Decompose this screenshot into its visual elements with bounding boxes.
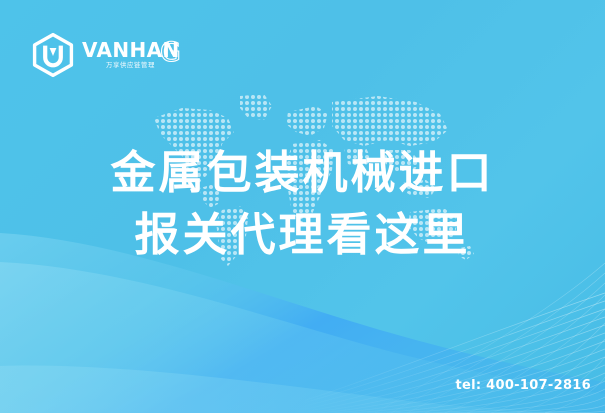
brand-logo[interactable]: VANHAN G 万享供应链管理 [30, 31, 190, 79]
brand-wordmark-group: VANHAN G 万享供应链管理 [82, 35, 190, 75]
contact-phone[interactable]: tel: 400-107-2816 [455, 378, 591, 393]
promo-banner: VANHAN G 万享供应链管理 金属包装机械进口 报关代理看这里 tel: 4… [0, 0, 605, 413]
headline-line-1: 金属包装机械进口 [0, 142, 605, 204]
hexagon-u-logo-icon [30, 32, 76, 78]
wordmark-outline-letter: G [160, 37, 181, 68]
headline-line-2: 报关代理看这里 [0, 204, 605, 266]
brand-wordmark: VANHAN G 万享供应链管理 [82, 35, 190, 75]
wordmark-subtitle: 万享供应链管理 [106, 60, 155, 69]
headline: 金属包装机械进口 报关代理看这里 [0, 142, 605, 266]
